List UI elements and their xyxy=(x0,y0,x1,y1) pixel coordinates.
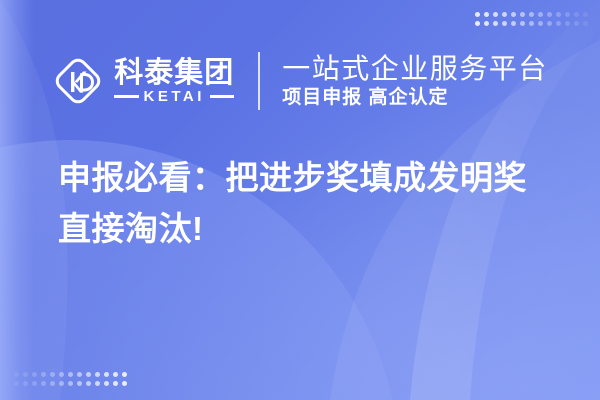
title-block: 申报必看：把进步奖填成发明奖直接淘汰! xyxy=(58,152,558,254)
vertical-divider-icon xyxy=(258,52,260,110)
dot-row xyxy=(14,372,127,377)
page-title: 申报必看：把进步奖填成发明奖直接淘汰! xyxy=(58,152,558,254)
dot-row xyxy=(14,381,127,386)
brand-name-en: KETAI xyxy=(144,89,205,104)
tagline-main: 一站式企业服务平台 xyxy=(282,53,548,85)
dot-row xyxy=(475,12,588,17)
wordmark-rule-right xyxy=(210,95,234,98)
ketai-diamond-kd-logo-icon xyxy=(52,55,104,107)
wordmark-rule-left xyxy=(114,95,138,98)
dot-grid-bottom-left xyxy=(14,372,127,386)
brand-logo[interactable]: 科泰集团 KETAI xyxy=(52,55,234,107)
brand-wordmark: 科泰集团 KETAI xyxy=(114,58,234,104)
brand-name-cn: 科泰集团 xyxy=(114,58,234,88)
dot-grid-top-right xyxy=(475,12,588,26)
promo-banner: 科泰集团 KETAI 一站式企业服务平台 项目申报 高企认定 申报必看：把进步奖… xyxy=(0,0,600,400)
banner-header: 科泰集团 KETAI 一站式企业服务平台 项目申报 高企认定 xyxy=(0,42,600,120)
tagline-sub: 项目申报 高企认定 xyxy=(282,87,548,110)
brand-name-en-row: KETAI xyxy=(114,89,234,104)
tagline-block: 一站式企业服务平台 项目申报 高企认定 xyxy=(282,53,548,110)
dot-row xyxy=(475,21,588,26)
